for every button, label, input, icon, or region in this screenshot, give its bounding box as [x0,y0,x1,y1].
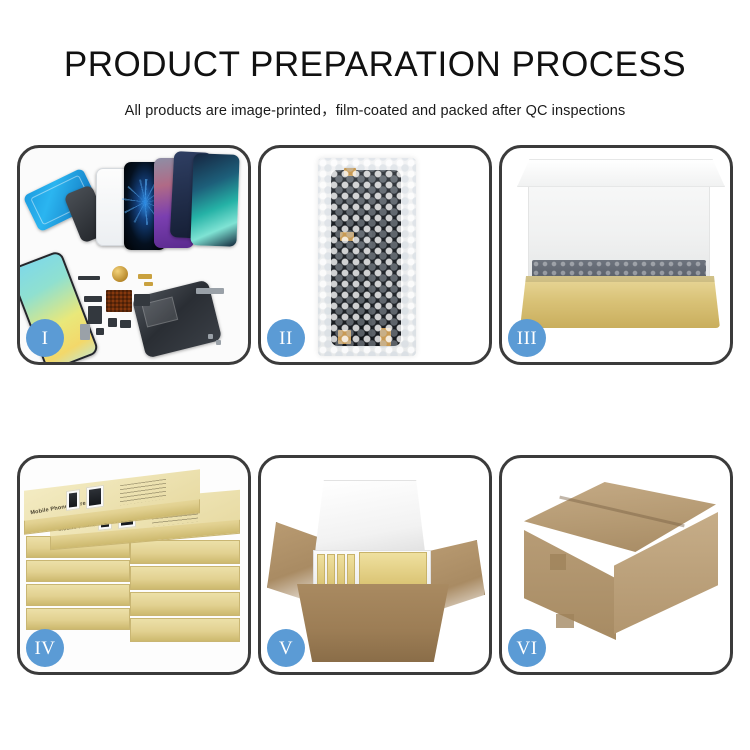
product-preparation-infographic: PRODUCT PREPARATION PROCESS All products… [0,0,750,750]
step-badge-4: IV [26,629,64,667]
inner-yellow-box-2 [327,554,335,588]
stack-thumb-1a [66,489,80,511]
component-flex-3 [134,294,150,306]
speaker-component [112,266,128,282]
page-subtitle: All products are image-printed，film-coat… [0,82,750,120]
carton-tape-patch-lower [556,614,574,628]
step-panel-5: V [258,455,492,675]
page-title: PRODUCT PREPARATION PROCESS [0,0,750,82]
stack-box-l4 [26,584,130,606]
inner-yellow-box-3 [337,554,345,588]
step-badge-3: III [508,319,546,357]
component-screw-2 [216,340,221,345]
component-chip-3 [96,328,104,335]
step-badge-6: VI [508,629,546,667]
step-badge-2: II [267,319,305,357]
bubble-texture-shadow [318,158,416,356]
stack-box-r2 [130,540,240,564]
component-ribbon-1 [78,276,100,280]
stack-box-r3 [130,566,240,590]
foam-lid [315,480,425,552]
step-panel-6: VI [499,455,733,675]
stack-box-l3 [26,560,130,582]
component-battery [80,324,90,340]
inner-yellow-box-4 [347,554,355,588]
phone-teal [190,153,239,247]
stack-thumb-1b [86,485,104,510]
header: PRODUCT PREPARATION PROCESS All products… [0,0,750,120]
component-tool [196,288,224,294]
stack-box-l5 [26,608,130,630]
step-panel-4: Mobile Phone Spare Parts Mobile Phone Sp… [17,455,251,675]
component-gold-1 [138,274,152,279]
component-chip-1 [108,318,117,327]
step-badge-5: V [267,629,305,667]
step-panel-2: II [258,145,492,365]
component-chip-2 [120,320,131,328]
box-yellow-tray [520,276,720,328]
component-gold-2 [144,282,153,286]
bubble-wrap-pouch [318,158,416,356]
stack-box-r5 [130,618,240,642]
step-panel-1: I [17,145,251,365]
component-screw-1 [208,334,213,339]
step-panel-3: III [499,145,733,365]
stack-box-r4 [130,592,240,616]
inner-yellow-box-1 [317,554,325,588]
carton-body [297,584,449,662]
step-badge-1: I [26,319,64,357]
component-logic-board [106,290,132,312]
component-flex-1 [84,296,102,302]
process-steps-grid: I II [17,145,733,675]
carton-tape-patch-upper [550,554,566,570]
component-flex-2 [88,306,102,324]
inner-yellow-box-stack [359,552,427,588]
